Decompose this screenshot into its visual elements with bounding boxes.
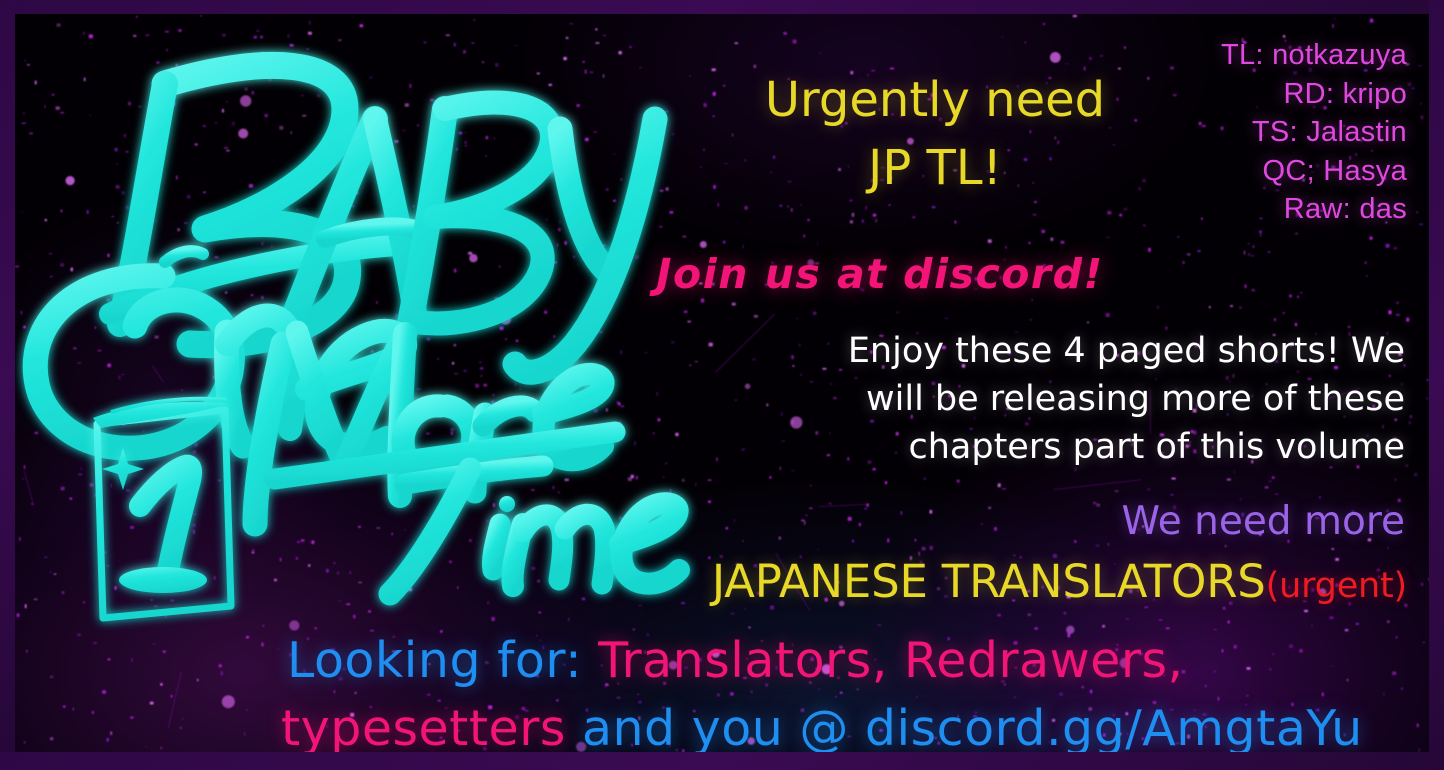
frame-border-right xyxy=(1429,0,1444,770)
japanese-translators-label: JAPANESE TRANSLATORS xyxy=(712,555,1266,608)
poster-canvas: TL: notkazuya RD: kripo TS: Jalastin QC;… xyxy=(0,0,1444,770)
urgent-badge: (urgent) xyxy=(1266,566,1407,606)
frame-border-top xyxy=(0,0,1444,14)
looking-for-prefix: Looking for: xyxy=(287,632,582,689)
spacer-1 xyxy=(582,632,598,689)
credit-line-ts: TS: Jalastin xyxy=(1221,113,1407,152)
spacer-2 xyxy=(566,700,582,752)
spacer-3 xyxy=(849,700,865,752)
artwork-area: TL: notkazuya RD: kripo TS: Jalastin QC;… xyxy=(15,14,1429,752)
discord-invite-link[interactable]: discord.gg/AmgtaYu xyxy=(865,700,1363,752)
credit-line-raw: Raw: das xyxy=(1221,190,1407,229)
looking-for-line-2: typesetters and you @ discord.gg/AmgtaYu xyxy=(281,704,1363,752)
credits-block: TL: notkazuya RD: kripo TS: Jalastin QC;… xyxy=(1221,36,1407,229)
connector-label: and you @ xyxy=(582,700,849,752)
credit-line-qc: QC; Hasya xyxy=(1221,152,1407,191)
background-glow-bottom-left xyxy=(15,392,655,752)
blurb-text: Enjoy these 4 paged shorts! We will be r… xyxy=(785,328,1405,472)
looking-for-line-1: Looking for: Translators, Redrawers, xyxy=(287,636,1184,685)
credit-line-rd: RD: kripo xyxy=(1221,75,1407,114)
frame-border-bottom xyxy=(0,752,1444,770)
headline-text: Urgently need JP TL! xyxy=(750,66,1120,202)
roles-line-2: typesetters xyxy=(281,700,566,752)
frame-border-left xyxy=(0,0,15,770)
roles-line-1: Translators, Redrawers, xyxy=(598,632,1183,689)
background-glow-left xyxy=(15,194,375,614)
credit-line-tl: TL: notkazuya xyxy=(1221,36,1407,75)
translators-line: JAPANESE TRANSLATORS(urgent) xyxy=(712,559,1407,604)
logo-artwork xyxy=(15,14,735,634)
need-more-label: We need more xyxy=(1121,502,1405,541)
discord-cta-text: Join us at discord! xyxy=(635,254,1125,295)
